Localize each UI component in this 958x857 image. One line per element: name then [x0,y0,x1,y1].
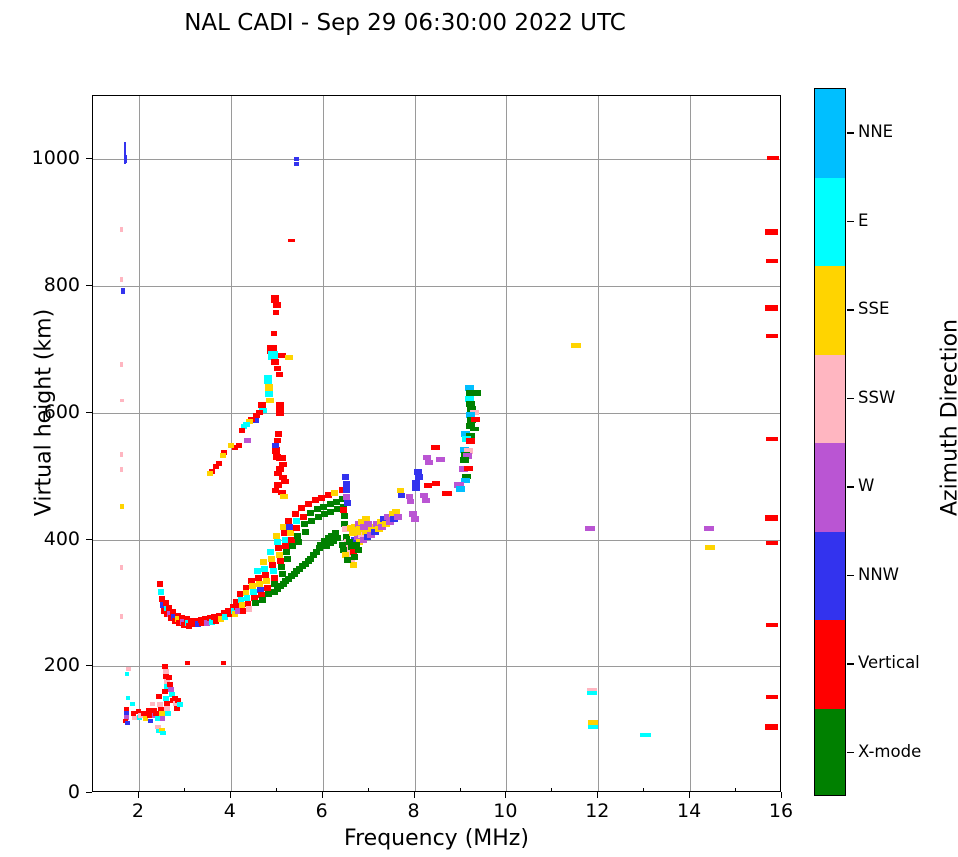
echo-marker [264,585,271,591]
echo-marker [283,549,290,555]
x-axis-tick-label: 16 [751,800,811,822]
echo-marker [280,494,288,499]
echo-marker [588,725,598,729]
echo-marker [432,481,440,486]
echo-marker [125,155,127,163]
y-axis-tick-label: 200 [10,654,80,676]
colorbar-tick [847,309,854,310]
echo-marker [120,227,123,232]
colorbar-tick [847,221,854,222]
echo-marker [294,533,301,539]
echo-marker [271,575,278,581]
echo-marker [268,556,275,562]
echo-marker [126,696,130,700]
echo-marker [407,499,414,504]
x-axis-tick [781,792,782,798]
echo-marker [120,565,123,570]
echo-marker [431,445,440,450]
echo-marker [411,516,419,522]
colorbar-tick [847,398,854,399]
echo-marker [456,486,465,492]
echo-marker [150,702,155,706]
x-axis-minor-tick [551,788,552,792]
colorbar-label: Vertical [858,653,920,672]
colorbar-segment [815,620,845,709]
echo-marker [460,457,469,463]
echo-marker [425,460,433,465]
echo-marker [275,431,282,437]
x-axis-tick-label: 14 [659,800,719,822]
echo-marker [471,417,480,422]
echo-marker [244,595,250,601]
echo-marker [273,533,280,539]
x-axis-tick-label: 2 [108,800,168,822]
x-axis-tick [505,792,506,798]
echo-marker [120,614,123,619]
echo-marker [276,372,283,377]
colorbar-segment [815,443,845,532]
echo-marker [766,334,778,338]
echo-marker [766,623,778,627]
echo-marker [276,409,284,416]
x-axis-minor-tick [92,788,93,792]
echo-marker [704,526,714,531]
colorbar-label: X-mode [858,742,921,761]
echo-marker [293,518,300,524]
echo-marker [166,675,172,680]
y-axis-tick-label: 1000 [10,147,80,169]
echo-marker [343,487,350,493]
colorbar-label: W [858,476,874,495]
x-axis-tick [597,792,598,798]
echo-marker [301,521,308,527]
echo-marker [126,667,131,671]
echo-marker [766,695,778,699]
x-axis-title: Frequency (MHz) [92,826,781,851]
echo-marker [262,572,269,578]
x-axis-minor-tick [276,788,277,792]
colorbar-label: SSE [858,299,889,318]
echo-marker [274,366,281,371]
echo-marker [266,398,274,403]
echo-marker [294,157,299,161]
echo-marker [255,575,262,581]
echo-marker [163,696,169,701]
x-axis-tick-label: 6 [292,800,352,822]
echo-marker [442,491,452,496]
colorbar-title: Azimuth Direction [938,248,958,588]
echo-marker [288,239,295,242]
ionogram-figure: NAL CADI - Sep 29 06:30:00 2022 UTC 2468… [0,0,958,857]
echo-marker [765,724,778,730]
scatter-points [93,96,780,791]
y-axis-tick [86,285,92,286]
page-title: NAL CADI - Sep 29 06:30:00 2022 UTC [0,10,810,36]
echo-marker [470,427,479,431]
echo-marker [162,689,168,694]
echo-marker [244,438,251,443]
echo-marker [246,606,252,612]
x-axis-minor-tick [368,788,369,792]
echo-marker [265,391,273,397]
echo-marker [344,500,351,506]
echo-marker [343,481,350,487]
echo-marker [272,443,279,448]
echo-marker [120,399,124,402]
echo-marker [294,162,299,166]
echo-marker [277,558,284,564]
echo-marker [120,467,123,472]
echo-marker [766,259,778,263]
echo-marker [263,578,270,584]
echo-marker [640,733,651,737]
x-axis-tick [230,792,231,798]
echo-marker [121,288,125,294]
echo-marker [343,494,350,500]
echo-marker [705,545,715,550]
echo-marker [270,568,277,574]
echo-marker [765,515,778,521]
echo-marker [275,545,282,551]
echo-marker [221,661,226,665]
y-axis-tick [86,158,92,159]
echo-marker [228,443,234,448]
colorbar-tick [847,132,854,133]
colorbar-label: NNE [858,122,893,141]
echo-marker [394,514,402,520]
colorbar-segment [815,532,845,621]
echo-marker [571,343,581,348]
echo-marker [766,437,778,441]
echo-marker [331,490,338,496]
echo-marker [278,564,285,570]
colorbar-label: SSW [858,388,895,407]
echo-marker [132,716,137,720]
x-axis-tick-label: 12 [567,800,627,822]
echo-marker [261,566,268,572]
echo-marker [587,691,597,695]
echo-marker [125,721,130,725]
echo-marker [285,355,293,360]
echo-marker [472,390,481,396]
echo-marker [125,672,129,676]
echo-marker [588,720,598,725]
echo-marker [276,455,286,461]
echo-marker [422,498,430,503]
echo-marker [271,589,278,595]
colorbar-label: E [858,211,868,230]
echo-marker [158,589,164,595]
echo-marker [220,453,226,458]
echo-marker [285,518,292,524]
colorbar [814,88,846,796]
echo-marker [155,716,160,721]
echo-marker [436,457,445,462]
echo-marker [148,719,153,723]
x-axis-tick [414,792,415,798]
echo-marker [286,524,293,530]
echo-marker [292,511,299,517]
y-axis-title: Virtual height (km) [32,233,57,593]
echo-marker [130,702,135,706]
echo-marker [239,428,245,433]
x-axis-minor-tick [643,788,644,792]
y-axis-tick [86,412,92,413]
colorbar-tick [847,663,854,664]
y-axis-tick-label: 0 [10,781,80,803]
echo-marker [344,557,351,563]
echo-marker [120,362,123,367]
echo-marker [295,539,302,545]
echo-marker [466,438,475,444]
echo-marker [273,302,281,308]
echo-marker [273,310,279,315]
echo-marker [259,597,266,603]
echo-marker [767,156,779,160]
echo-marker [160,716,165,721]
colorbar-label: NNW [858,565,899,584]
echo-marker [156,694,162,699]
colorbar-tick [847,752,854,753]
x-axis-tick-label: 10 [475,800,535,822]
echo-marker [281,479,289,484]
echo-marker [120,504,124,509]
echo-marker [364,521,372,527]
echo-marker [185,661,190,665]
x-axis-tick [322,792,323,798]
plot-area [92,95,781,792]
colorbar-tick [847,575,854,576]
x-axis-minor-tick [460,788,461,792]
echo-marker [585,526,595,531]
colorbar-segment [815,709,845,797]
echo-marker [765,305,778,311]
echo-marker [271,359,279,365]
x-axis-tick [138,792,139,798]
y-axis-tick [86,792,92,793]
echo-marker [765,229,778,235]
x-axis-tick-label: 4 [200,800,260,822]
x-axis-minor-tick [735,788,736,792]
echo-marker [254,568,261,574]
echo-marker [351,554,358,560]
echo-marker [464,466,473,471]
x-axis-minor-tick [184,788,185,792]
echo-marker [274,539,281,545]
echo-marker [355,547,362,553]
echo-marker [157,581,163,587]
echo-marker [293,525,300,531]
y-axis-tick [86,665,92,666]
echo-marker [276,552,283,558]
colorbar-tick [847,486,854,487]
echo-marker [341,513,348,519]
colorbar-segment [815,178,845,267]
echo-marker [342,474,349,480]
echo-marker [766,541,778,545]
echo-marker [412,485,420,491]
echo-marker [298,505,305,511]
colorbar-segment [815,89,845,178]
echo-marker [300,514,307,520]
echo-marker [120,452,123,457]
echo-marker [120,277,123,282]
echo-marker [269,562,276,568]
echo-marker [237,591,243,597]
echo-marker [160,731,166,735]
colorbar-segment [815,266,845,355]
echo-marker [167,682,173,687]
echo-marker [334,535,341,541]
echo-marker [398,493,405,498]
echo-marker [131,711,136,716]
colorbar-segment [815,355,845,444]
echo-marker [256,581,263,587]
echo-marker [267,549,274,555]
echo-marker [207,471,213,476]
echo-marker [240,608,246,614]
x-axis-tick-label: 8 [384,800,444,822]
y-axis-tick [86,539,92,540]
x-axis-tick [689,792,690,798]
echo-marker [260,559,267,565]
echo-marker [271,331,277,336]
echo-marker [302,529,309,535]
echo-marker [284,556,291,562]
echo-marker [165,711,171,716]
echo-marker [415,474,423,480]
echo-marker [177,702,183,707]
